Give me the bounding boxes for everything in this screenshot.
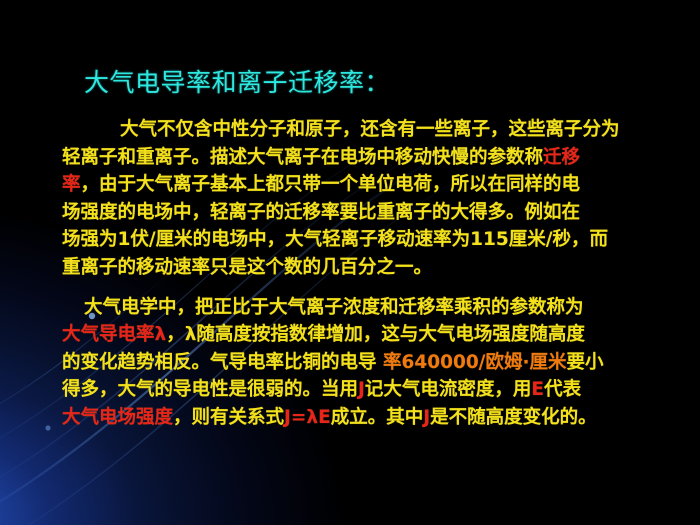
p2-line-5-run-3-formula: J=λE (284, 407, 331, 428)
p2-line-5-run-2: ，则有关系式 (173, 407, 284, 428)
p2-line-5-run-4: 成立。其中 (331, 407, 424, 428)
p1-line-5-run-1: 场强为1伏/厘米的电场中，大气轻离子移动速率为115厘米/秒，而 (62, 229, 608, 250)
p1-line-3-run-1-highlight: 率 (62, 174, 81, 195)
p2-line-4-run-1: 得多，大气的导电性是很弱的。当用 (62, 379, 358, 400)
p1-line-2: 轻离子和重离子。描述大气离子在电场中移动快慢的参数称迁移 (62, 144, 662, 172)
p1-line-4: 场强度的电场中，轻离子的迁移率要比重离子的大得多。例如在 (62, 199, 662, 227)
p2-line-1: 大气电学中，把正比于大气离子浓度和迁移率乘积的参数称为 (62, 294, 662, 322)
p1-line-5: 场强为1伏/厘米的电场中，大气轻离子移动速率为115厘米/秒，而 (62, 226, 662, 254)
paragraph-2: 大气电学中，把正比于大气离子浓度和迁移率乘积的参数称为 大气导电率λ，λ随高度按… (62, 294, 662, 432)
p1-line-2-run-2-highlight: 迁移 (543, 147, 580, 168)
p1-line-1: 大气不仅含中性分子和原子，还含有一些离子，这些离子分为 (62, 116, 662, 144)
p2-line-5-run-6: 是不随高度变化的。 (430, 407, 597, 428)
p2-line-2-run-2: ，λ随高度按指数律增加，这与大气电场强度随高度 (166, 324, 585, 345)
p2-line-4-run-3: 记大气电流密度，用 (365, 379, 532, 400)
p2-line-4-run-2-highlight: J (358, 379, 365, 400)
p1-line-1-run-1: 大气不仅含中性分子和原子，还含有一些离子，这些离子分为 (120, 119, 620, 140)
p2-line-3: 的变化趋势相反。气导电率比铜的电导 率640000/欧姆·厘米要小 (62, 349, 662, 377)
p2-line-2-run-1-highlight: 大气导电率λ (62, 324, 166, 345)
p1-line-6: 重离子的移动速率只是这个数的几百分之一。 (62, 254, 662, 282)
paragraph-1: 大气不仅含中性分子和原子，还含有一些离子，这些离子分为 轻离子和重离子。描述大气… (62, 116, 662, 282)
p2-line-4-run-4-highlight: E (531, 379, 544, 400)
page-title: 大气电导率和离子迁移率： (84, 66, 390, 100)
p1-line-3: 率，由于大气离子基本上都只带一个单位电荷，所以在同样的电 (62, 171, 662, 199)
p2-line-3-run-1: 的变化趋势相反。气导电率比铜的电导 (62, 352, 383, 373)
p2-line-1-run-1: 大气电学中，把正比于大气离子浓度和迁移率乘积的参数称为 (84, 297, 584, 318)
slide-content: 大气电导率和离子迁移率： 大气不仅含中性分子和原子，还含有一些离子，这些离子分为… (0, 0, 700, 525)
p1-line-3-run-2: ，由于大气离子基本上都只带一个单位电荷，所以在同样的电 (81, 174, 581, 195)
p2-line-3-run-2-emphasis: 率640000/欧姆·厘米 (383, 352, 567, 373)
p2-line-4: 得多，大气的导电性是很弱的。当用J记大气电流密度，用E代表 (62, 376, 662, 404)
p1-line-6-run-1: 重离子的移动速率只是这个数的几百分之一。 (62, 257, 432, 278)
slide-canvas: 大气电导率和离子迁移率： 大气不仅含中性分子和原子，还含有一些离子，这些离子分为… (0, 0, 700, 525)
p2-line-5-run-1-highlight: 大气电场强度 (62, 407, 173, 428)
p2-line-2: 大气导电率λ，λ随高度按指数律增加，这与大气电场强度随高度 (62, 321, 662, 349)
p2-line-4-run-5: 代表 (544, 379, 581, 400)
p1-line-2-run-1: 轻离子和重离子。描述大气离子在电场中移动快慢的参数称 (62, 147, 543, 168)
p2-line-5: 大气电场强度，则有关系式J=λE成立。其中J是不随高度变化的。 (62, 404, 662, 432)
p2-line-3-run-3: 要小 (566, 352, 603, 373)
p1-line-4-run-1: 场强度的电场中，轻离子的迁移率要比重离子的大得多。例如在 (62, 202, 580, 223)
body-text: 大气不仅含中性分子和原子，还含有一些离子，这些离子分为 轻离子和重离子。描述大气… (62, 116, 662, 444)
